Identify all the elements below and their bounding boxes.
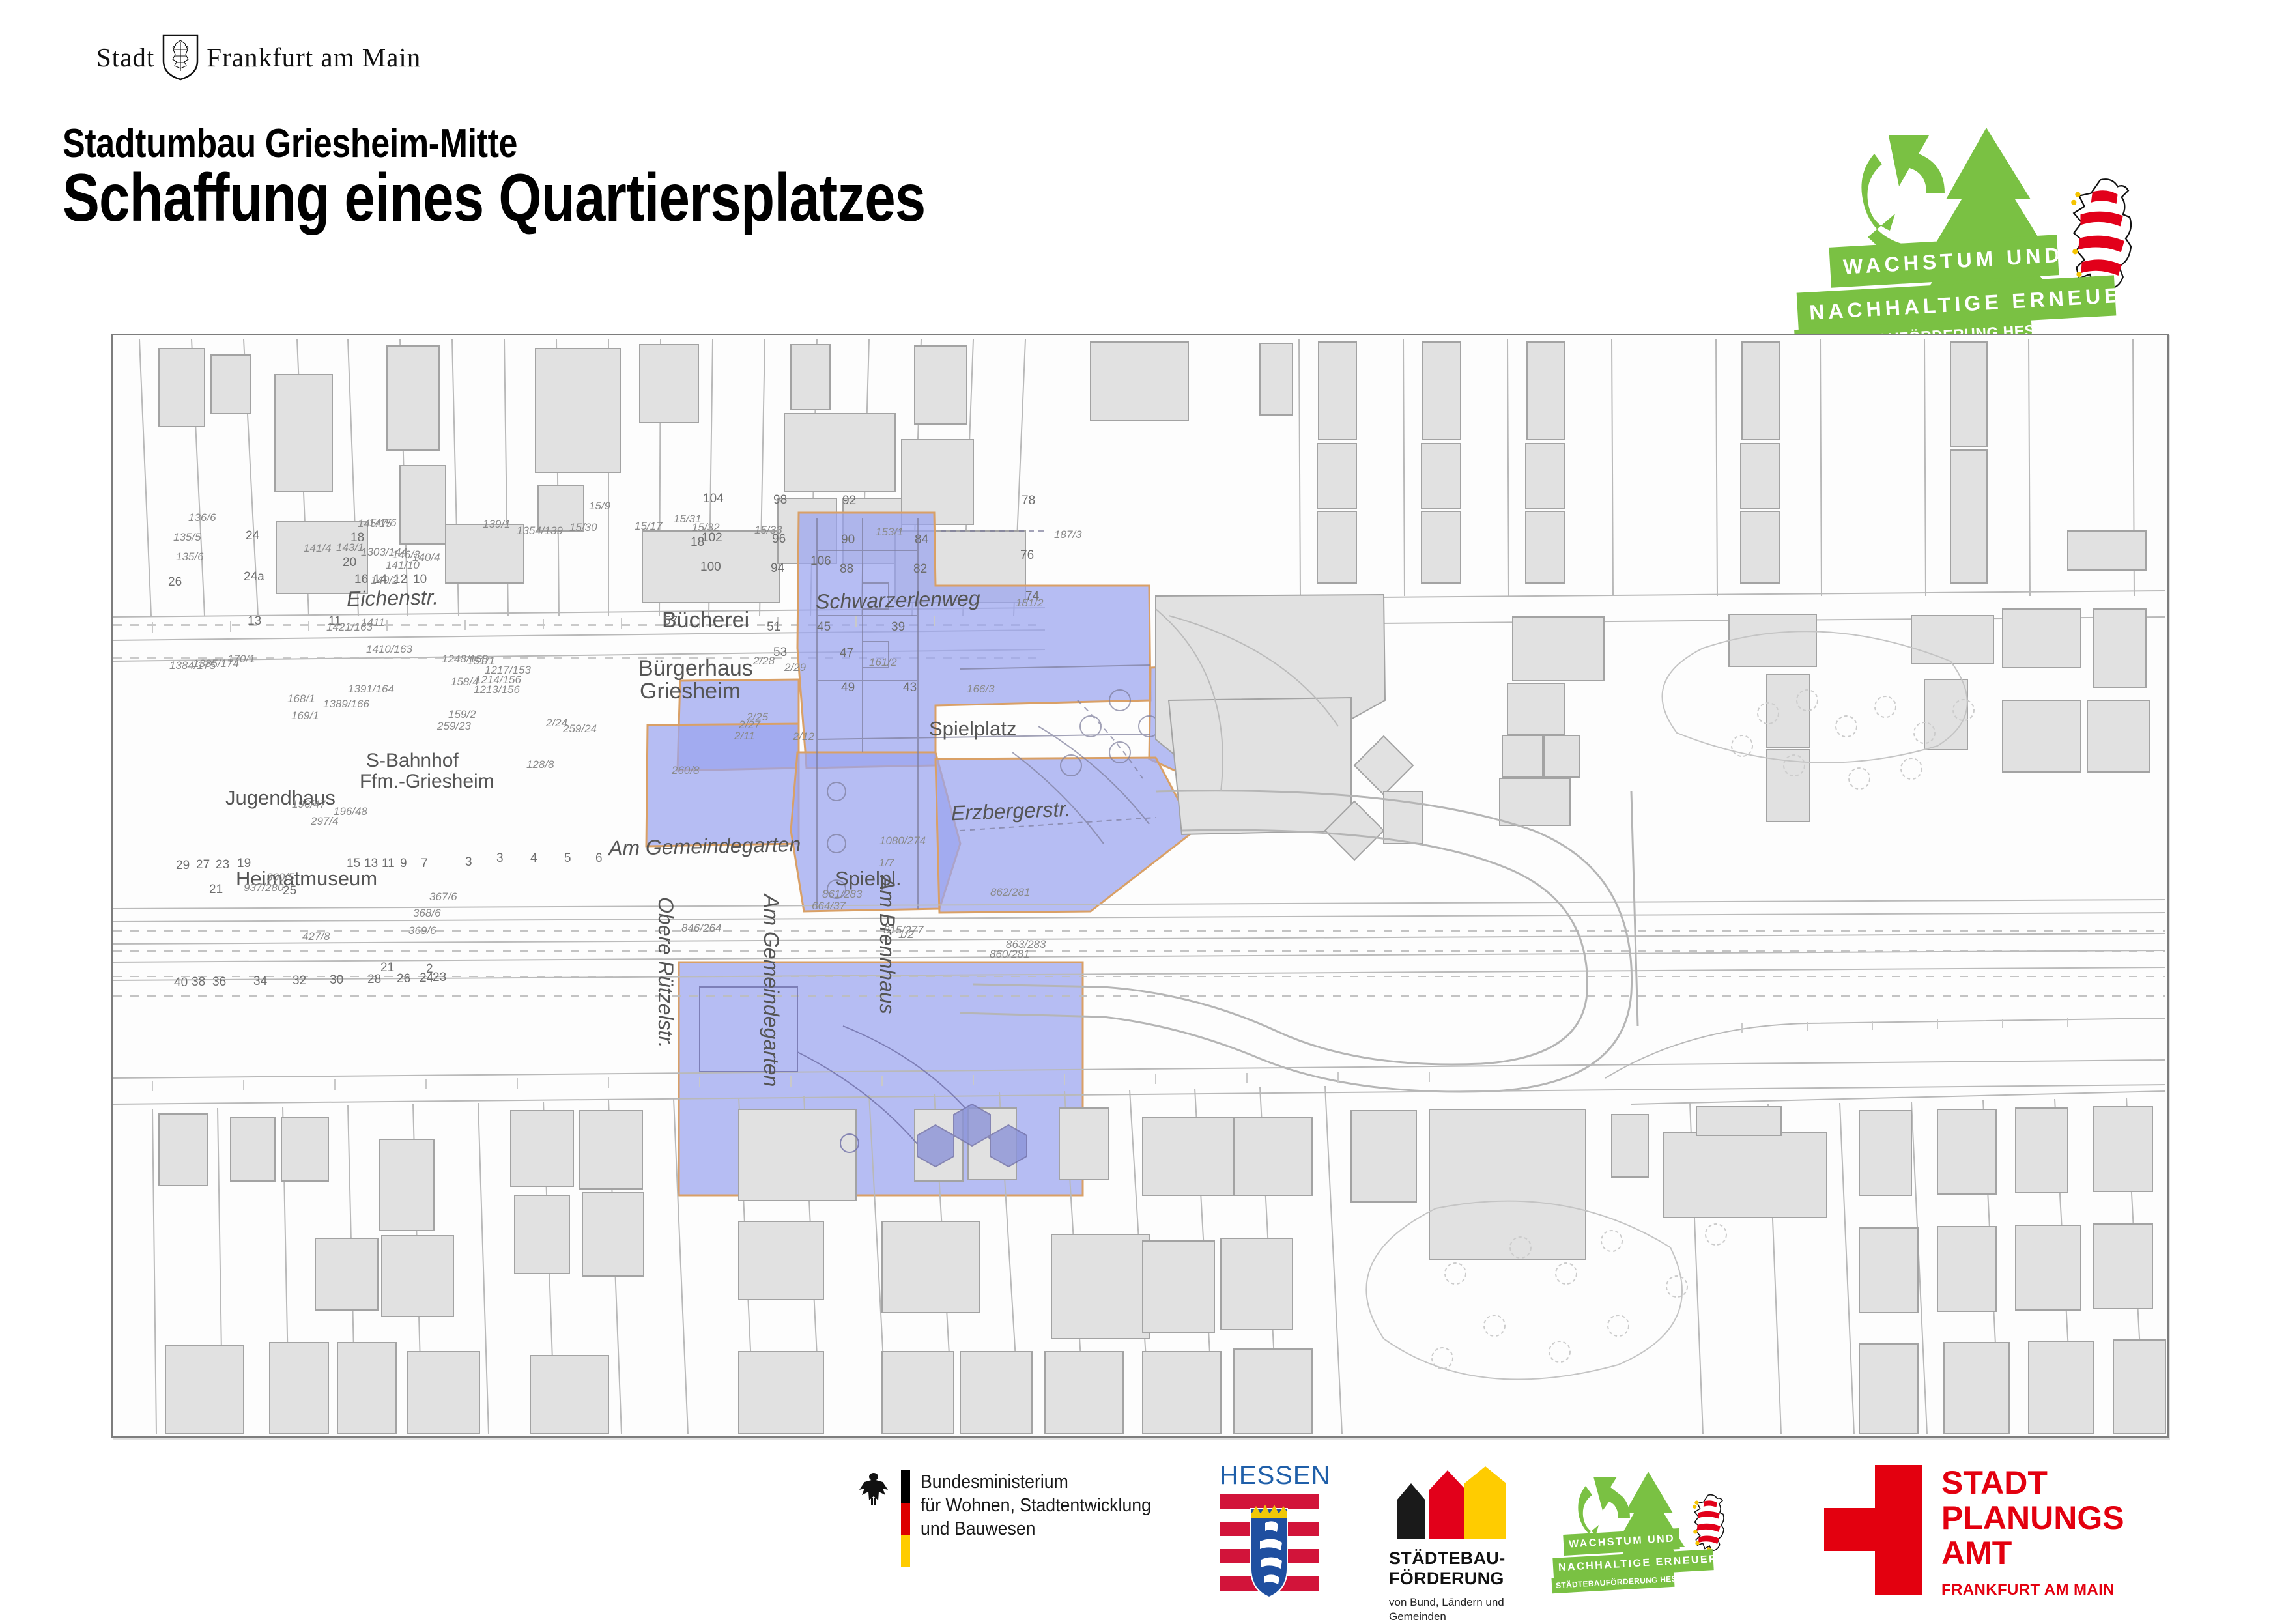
city-wordmark-frankfurt: Frankfurt am Main [207,42,421,73]
logo-wachstum-nachhaltige-erneuerung-small: WACHSTUM UND NACHHALTIGE ERNEUERUNG STÄD… [1557,1465,1772,1602]
map-vector-layer [113,335,2167,1436]
stbf-sub-line2: Gemeinden [1389,1610,1506,1624]
three-houses-icon [1389,1466,1506,1539]
spa-line1: STADT [1941,1465,2124,1500]
page-title: Schaffung eines Quartiersplatzes [63,160,925,237]
page-footer: Bundesministerium für Wohnen, Stadtentwi… [0,1456,2286,1616]
stbf-title-line1: STÄDTEBAU- [1389,1548,1506,1569]
stbf-sub-line1: von Bund, Ländern und [1389,1595,1506,1610]
page-header: Stadt Frankfurt am Main Stadtumbau Gries… [0,0,2286,326]
logo-stadtplanungsamt: STADT PLANUNGS AMT FRANKFURT AM MAIN [1824,1465,2124,1599]
hessen-lion-shield-icon [1220,1494,1331,1603]
stbf-title-line2: FÖRDERUNG [1389,1569,1506,1589]
city-of-frankfurt-logo: Stadt Frankfurt am Main [96,34,421,81]
logo-staedtebaufoerderung: STÄDTEBAU- FÖRDERUNG von Bund, Ländern u… [1389,1466,1506,1624]
stadtplanungsamt-mark-icon [1824,1465,1922,1595]
bmwsb-line1: Bundesministerium [921,1470,1151,1494]
spa-line2: PLANUNGS [1941,1500,2124,1535]
bmwsb-line3: und Bauwesen [921,1517,1151,1541]
logo-hessen: HESSEN [1220,1461,1331,1603]
spa-line3: AMT [1941,1535,2124,1571]
cadastral-map[interactable]: Eichenstr. Schwarzerlenweg Am Gemeindega… [111,334,2169,1438]
city-wordmark-stadt: Stadt [96,42,154,73]
bundesadler-icon [857,1470,891,1511]
bmwsb-text-block: Bundesministerium für Wohnen, Stadtentwi… [921,1470,1151,1541]
bmwsb-line2: für Wohnen, Stadtentwicklung [921,1494,1151,1517]
hessen-lion-icon [2071,179,2131,289]
frankfurt-eagle-crest-icon [161,34,200,81]
logo-bundesministerium: Bundesministerium für Wohnen, Stadtentwi… [857,1470,1171,1570]
german-flag-bar [901,1470,910,1570]
hessen-wordmark: HESSEN [1220,1461,1331,1490]
hessen-lion-icon [1693,1495,1724,1552]
spa-sub: FRANKFURT AM MAIN [1941,1581,2124,1599]
